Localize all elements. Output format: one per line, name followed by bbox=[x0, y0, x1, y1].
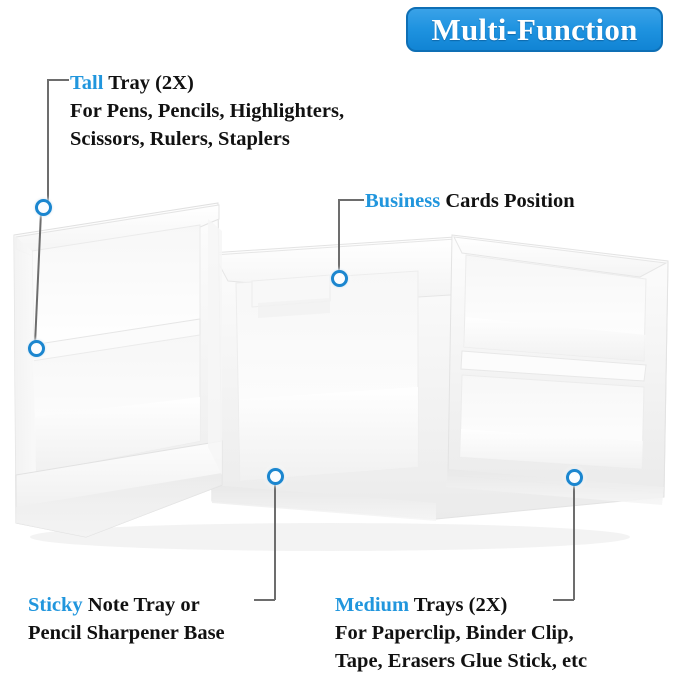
callout-business-rest: Cards Position bbox=[440, 190, 574, 212]
callout-sticky-line-2: Pencil Sharpener Base bbox=[28, 619, 225, 647]
callout-business-highlight: Business bbox=[365, 190, 440, 212]
infographic-canvas: Multi-Function Tall Tray (2X) For Pens, … bbox=[0, 0, 679, 692]
callout-medium-rest: Trays (2X) bbox=[409, 594, 507, 616]
callout-tall-tray: Tall Tray (2X) For Pens, Pencils, Highli… bbox=[70, 69, 344, 153]
callout-tall-line-2: For Pens, Pencils, Highlighters, bbox=[70, 97, 344, 125]
marker-medium-trays[interactable] bbox=[566, 469, 583, 486]
marker-tall-upper[interactable] bbox=[35, 199, 52, 216]
callout-medium-line-1: Medium Trays (2X) bbox=[335, 591, 587, 619]
marker-sticky-note[interactable] bbox=[267, 468, 284, 485]
callout-sticky-highlight: Sticky bbox=[28, 594, 83, 616]
leader-line-sticky-horizontal bbox=[254, 599, 275, 601]
callout-tall-line-3: Scissors, Rulers, Staplers bbox=[70, 125, 344, 153]
marker-business-cards[interactable] bbox=[331, 270, 348, 287]
multi-function-badge: Multi-Function bbox=[406, 7, 663, 52]
callout-tall-rest: Tray (2X) bbox=[103, 72, 193, 94]
callout-medium-highlight: Medium bbox=[335, 594, 409, 616]
callout-tall-highlight: Tall bbox=[70, 72, 103, 94]
callout-business-cards: Business Cards Position bbox=[365, 187, 575, 215]
badge-label: Multi-Function bbox=[431, 14, 637, 45]
leader-line-medium-vertical bbox=[573, 482, 575, 600]
callout-medium-trays: Medium Trays (2X) For Paperclip, Binder … bbox=[335, 591, 587, 675]
callout-medium-line-2: For Paperclip, Binder Clip, bbox=[335, 619, 587, 647]
marker-tall-lower[interactable] bbox=[28, 340, 45, 357]
callout-sticky-rest: Note Tray or bbox=[83, 594, 200, 616]
callout-sticky-line-1: Sticky Note Tray or bbox=[28, 591, 225, 619]
callout-medium-line-3: Tape, Erasers Glue Stick, etc bbox=[335, 647, 587, 675]
callout-business-line-1: Business Cards Position bbox=[365, 187, 575, 215]
leader-line-sticky-vertical bbox=[274, 481, 276, 600]
leader-line-business-horizontal bbox=[339, 199, 364, 201]
leader-line-tall-vertical bbox=[47, 79, 49, 201]
callout-tall-line-1: Tall Tray (2X) bbox=[70, 69, 344, 97]
leader-line-business-vertical bbox=[338, 199, 340, 273]
leader-line-tall-horizontal bbox=[48, 79, 69, 81]
callout-sticky-note: Sticky Note Tray or Pencil Sharpener Bas… bbox=[28, 591, 225, 647]
